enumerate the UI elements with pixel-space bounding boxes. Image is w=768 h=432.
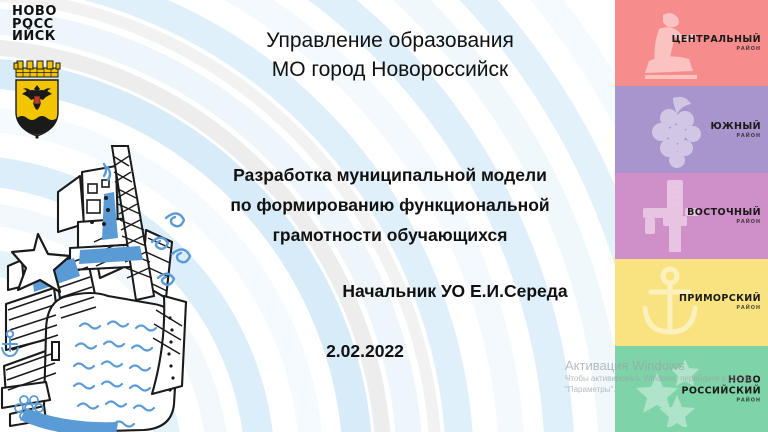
organisation-line-1: Управление образования — [180, 26, 600, 55]
district-sub: РАЙОН — [687, 219, 761, 225]
wordmark-line-3: ИЙСК — [12, 31, 84, 44]
district-label: ЦЕНТРАЛЬНЫЙ РАЙОН — [672, 34, 761, 52]
district-label: ВОСТОЧНЫЙ РАЙОН — [687, 207, 761, 225]
page-title: Разработка муниципальной модели по форми… — [178, 160, 602, 250]
district-name: ПРИМОРСКИЙ — [679, 293, 761, 304]
district-tile-primorsky[interactable]: ПРИМОРСКИЙ РАЙОН — [615, 259, 768, 345]
district-name: ВОСТОЧНЫЙ — [687, 207, 761, 218]
district-sub: РАЙОН — [679, 305, 761, 311]
district-label: НОВО РОССИЙСКИЙ РАЙОН — [681, 374, 761, 403]
district-name: ЦЕНТРАЛЬНЫЙ — [672, 34, 761, 45]
coat-of-arms-icon — [8, 56, 66, 140]
district-label: ЮЖНЫЙ РАЙОН — [710, 121, 761, 139]
presentation-date: 2.02.2022 — [290, 341, 440, 362]
district-name: ЮЖНЫЙ — [710, 121, 761, 132]
city-brand: НОВО РОСС ИЙСК — [12, 6, 84, 44]
district-tile-novorossiysky[interactable]: НОВО РОССИЙСКИЙ РАЙОН — [615, 346, 768, 432]
organisation-line-2: МО город Новороссийск — [180, 55, 600, 84]
district-sub: РАЙОН — [681, 397, 761, 403]
district-sub: РАЙОН — [710, 133, 761, 139]
district-label: ПРИМОРСКИЙ РАЙОН — [679, 293, 761, 311]
district-tile-yuzhny[interactable]: ЮЖНЫЙ РАЙОН — [615, 86, 768, 172]
grapes-icon — [633, 92, 707, 168]
speaker-name: Начальник УО Е.И.Середа — [300, 281, 610, 302]
district-strip: ЦЕНТРАЛЬНЫЙ РАЙОН ЮЖНЫЙ РАЙОН — [615, 0, 768, 432]
organisation-heading: Управление образования МО город Новоросс… — [180, 26, 600, 84]
district-tile-centralny[interactable]: ЦЕНТРАЛЬНЫЙ РАЙОН — [615, 0, 768, 86]
district-sub: РАЙОН — [672, 46, 761, 52]
title-line-3: грамотности обучающихся — [178, 220, 602, 250]
title-line-2: по формированию функциональной — [178, 190, 602, 220]
presentation-slide: НОВО РОСС ИЙСК — [0, 0, 768, 432]
district-name: НОВО РОССИЙСКИЙ — [681, 374, 761, 396]
title-line-1: Разработка муниципальной модели — [178, 160, 602, 190]
district-tile-vostochny[interactable]: ВОСТОЧНЫЙ РАЙОН — [615, 173, 768, 259]
